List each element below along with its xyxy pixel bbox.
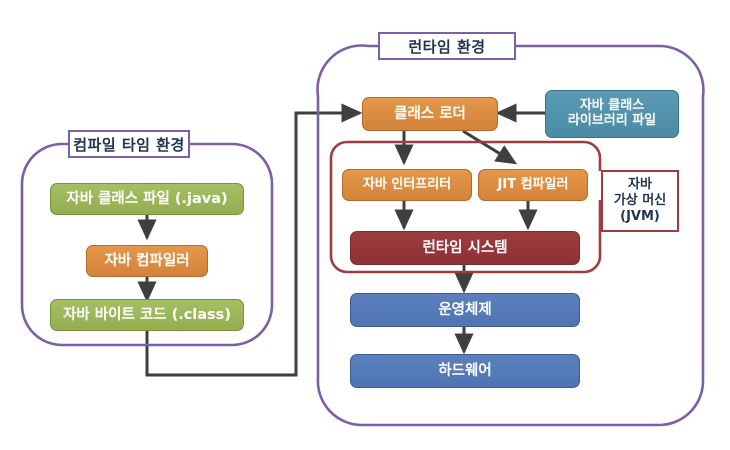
node-java-compiler-label: 자바 컴파일러 (104, 253, 189, 270)
node-jit-compiler[interactable]: JIT 컴파일러 (478, 169, 588, 201)
jvm-label-box: 자바 가상 머신 (JVM) (601, 170, 679, 232)
node-runtime-system-label: 런타임 시스템 (422, 240, 507, 257)
node-java-source-file-label: 자바 클래스 파일 (.java) (66, 191, 227, 208)
compile-time-title-label: 컴파일 타임 환경 (73, 134, 185, 155)
node-operating-system-label: 운영체제 (438, 302, 491, 319)
node-class-library-file-label: 자바 클래스 라이브러리 파일 (568, 99, 656, 129)
jvm-label-text: 자바 가상 머신 (JVM) (614, 177, 666, 226)
node-java-bytecode[interactable]: 자바 바이트 코드 (.class) (50, 299, 244, 331)
node-java-source-file[interactable]: 자바 클래스 파일 (.java) (50, 183, 244, 215)
node-operating-system[interactable]: 운영체제 (350, 293, 580, 327)
node-java-compiler[interactable]: 자바 컴파일러 (86, 245, 208, 277)
node-java-interpreter-label: 자바 인터프리터 (363, 178, 451, 193)
node-java-interpreter[interactable]: 자바 인터프리터 (342, 169, 472, 201)
node-class-loader-label: 클래스 로더 (394, 106, 466, 123)
node-runtime-system[interactable]: 런타임 시스템 (350, 231, 580, 265)
node-java-bytecode-label: 자바 바이트 코드 (.class) (63, 307, 231, 324)
runtime-title-label: 런타임 환경 (408, 36, 485, 57)
node-class-library-file[interactable]: 자바 클래스 라이브러리 파일 (545, 90, 679, 138)
node-jit-compiler-label: JIT 컴파일러 (498, 178, 569, 193)
node-hardware[interactable]: 하드웨어 (350, 354, 580, 388)
diagram-canvas: 컴파일 타임 환경 런타임 환경 자바 가상 머신 (JVM) 자바 클래스 파… (0, 0, 730, 450)
compile-time-title: 컴파일 타임 환경 (68, 130, 190, 158)
node-hardware-label: 하드웨어 (438, 363, 491, 380)
runtime-title: 런타임 환경 (378, 32, 516, 60)
node-class-loader[interactable]: 클래스 로더 (362, 97, 498, 131)
